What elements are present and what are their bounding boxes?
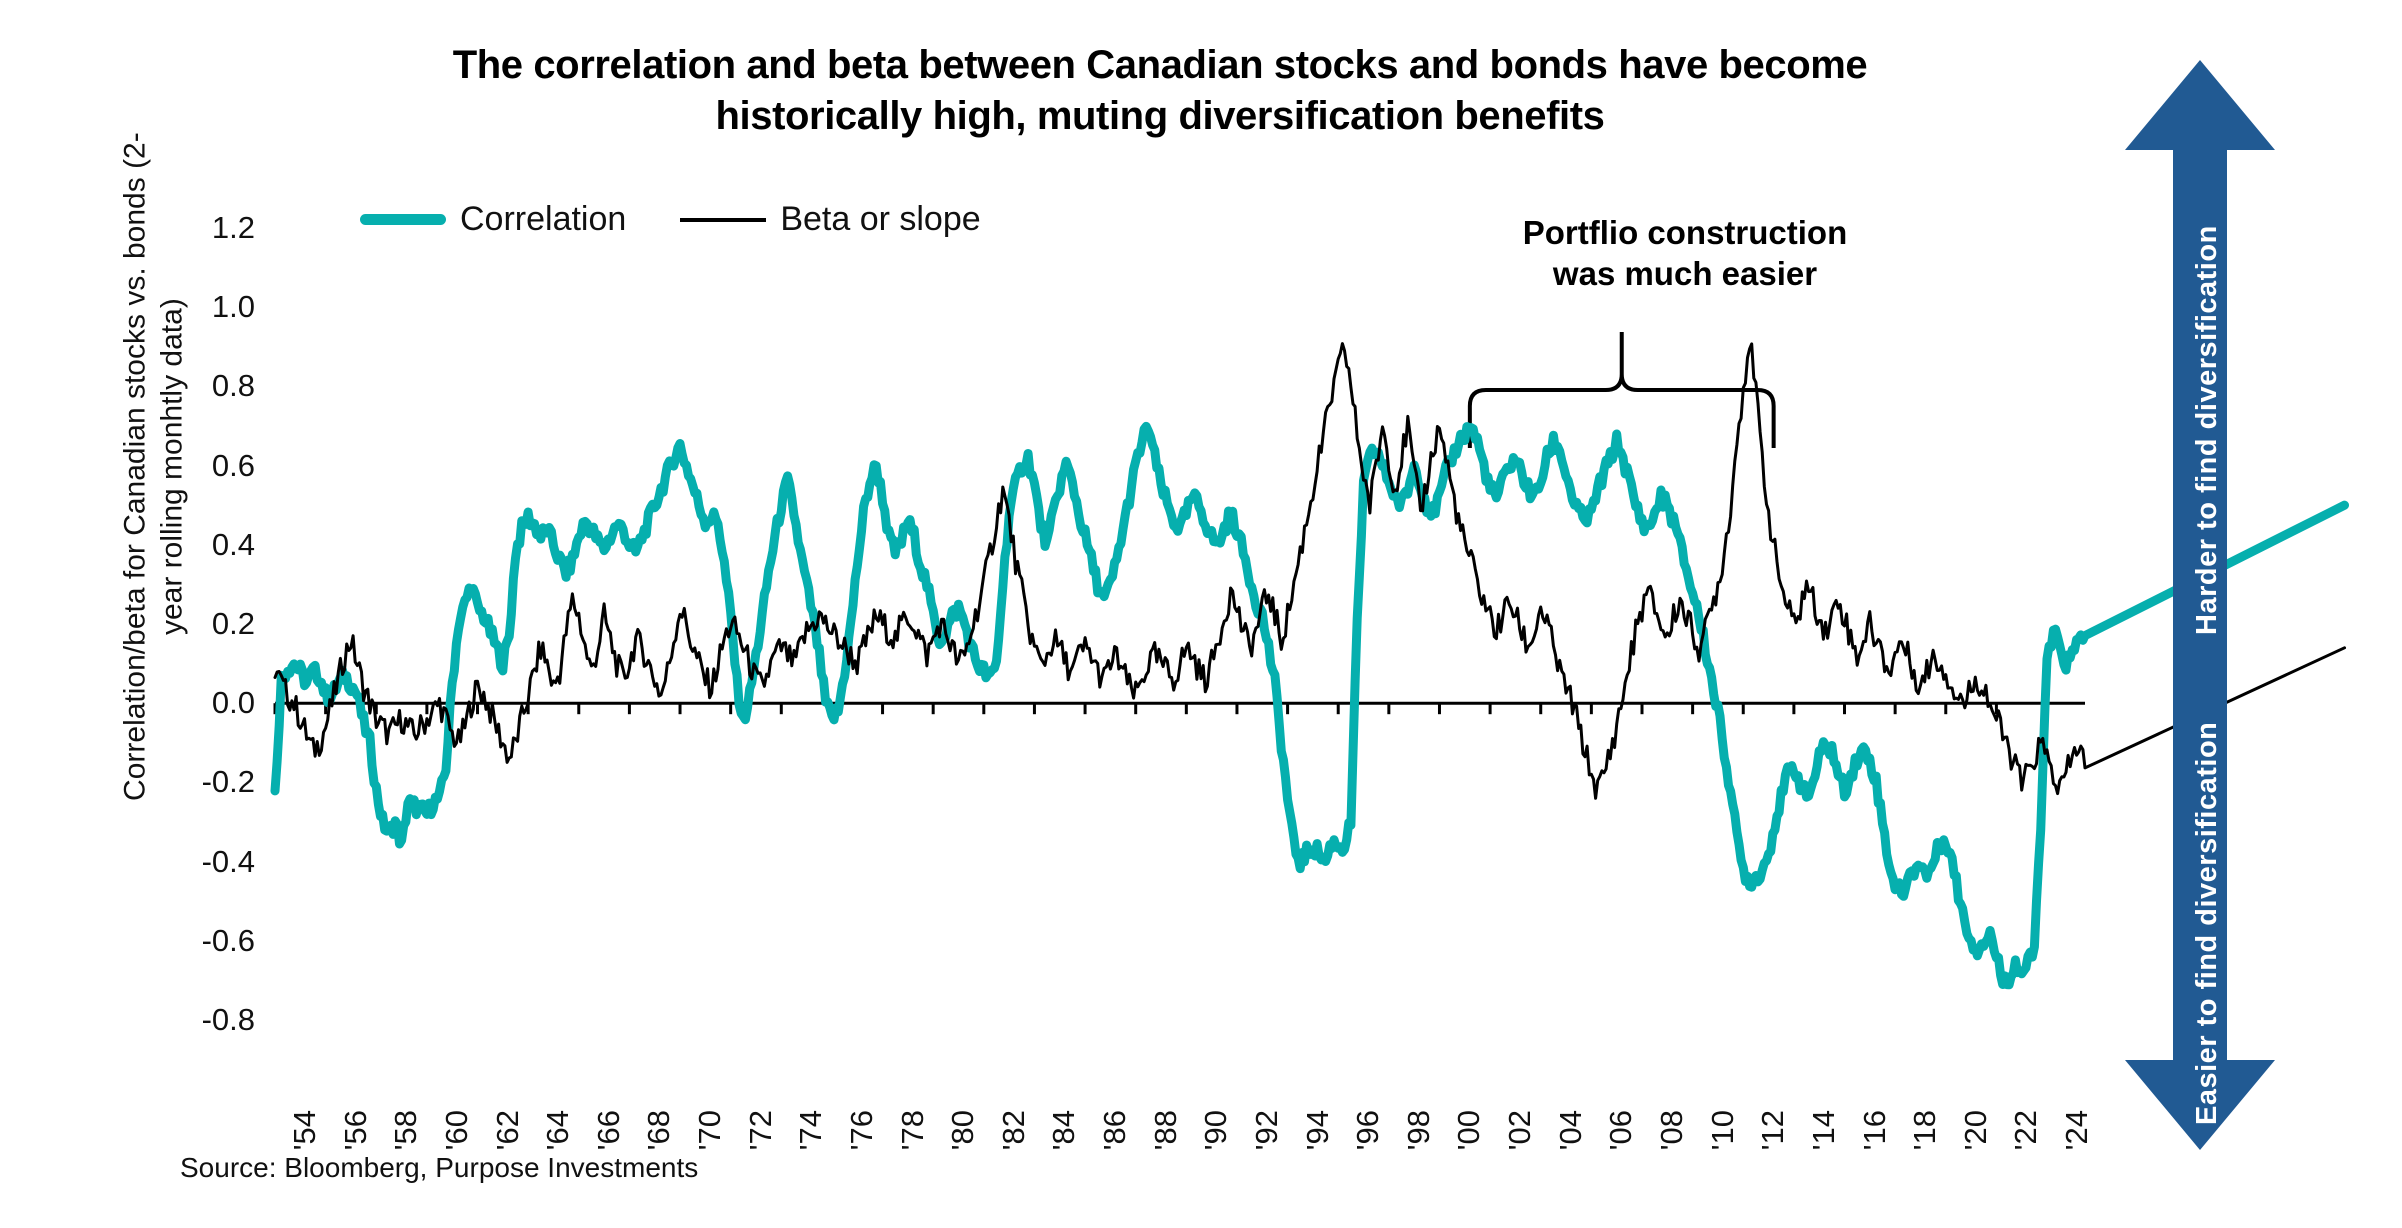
x-tick-label: '22 (2008, 1110, 2044, 1150)
x-tick-label: '76 (844, 1110, 880, 1150)
diversification-arrow: Harder to find diversification Easier to… (2125, 60, 2275, 1150)
x-tick-label: '20 (1958, 1110, 1994, 1150)
source-note: Source: Bloomberg, Purpose Investments (180, 1152, 698, 1184)
x-tick-label: '58 (388, 1110, 424, 1150)
x-tick-label: '56 (338, 1110, 374, 1150)
x-tick-label: '94 (1300, 1110, 1336, 1150)
y-tick-label: 0.4 (165, 527, 255, 563)
x-tick-label: '10 (1705, 1110, 1741, 1150)
y-tick-label: 0.0 (165, 685, 255, 721)
x-tick-label: '80 (945, 1110, 981, 1150)
x-tick-label: '60 (439, 1110, 475, 1150)
double-arrow-icon (2125, 60, 2275, 1150)
arrow-shape-svg (2125, 60, 2275, 1150)
annotation-bracket (1470, 332, 1774, 448)
x-tick-label: '18 (1907, 1110, 1943, 1150)
x-tick-label: '54 (287, 1110, 323, 1150)
x-tick-label: '90 (1198, 1110, 1234, 1150)
x-tick-label: '70 (692, 1110, 728, 1150)
x-tick-label: '88 (1148, 1110, 1184, 1150)
x-tick-label: '24 (2059, 1110, 2095, 1150)
x-tick-label: '84 (1046, 1110, 1082, 1150)
x-tick-label: '00 (1451, 1110, 1487, 1150)
y-tick-label: 0.6 (165, 448, 255, 484)
series-line-beta (275, 344, 2345, 799)
x-tick-label: '64 (540, 1110, 576, 1150)
x-tick-label: '96 (1350, 1110, 1386, 1150)
x-tick-label: '74 (793, 1110, 829, 1150)
x-tick-label: '14 (1806, 1110, 1842, 1150)
plot-svg (0, 0, 2402, 1228)
y-tick-label: 0.2 (165, 606, 255, 642)
x-tick-label: '92 (1249, 1110, 1285, 1150)
y-tick-label: 1.0 (165, 289, 255, 325)
chart-container: The correlation and beta between Canadia… (0, 0, 2402, 1228)
x-tick-label: '82 (996, 1110, 1032, 1150)
x-tick-label: '66 (591, 1110, 627, 1150)
x-tick-label: '04 (1553, 1110, 1589, 1150)
x-tick-label: '02 (1502, 1110, 1538, 1150)
x-tick-label: '86 (1097, 1110, 1133, 1150)
y-tick-label: -0.8 (165, 1002, 255, 1038)
x-tick-label: '08 (1654, 1110, 1690, 1150)
y-tick-label: 1.2 (165, 210, 255, 246)
x-tick-label: '16 (1857, 1110, 1893, 1150)
x-tick-label: '68 (641, 1110, 677, 1150)
x-tick-label: '98 (1401, 1110, 1437, 1150)
y-tick-label: 0.8 (165, 368, 255, 404)
y-tick-label: -0.2 (165, 764, 255, 800)
y-tick-label: -0.4 (165, 844, 255, 880)
x-tick-label: '62 (490, 1110, 526, 1150)
x-tick-label: '06 (1603, 1110, 1639, 1150)
y-tick-label: -0.6 (165, 923, 255, 959)
x-tick-label: '78 (895, 1110, 931, 1150)
x-tick-label: '12 (1755, 1110, 1791, 1150)
x-tick-label: '72 (743, 1110, 779, 1150)
